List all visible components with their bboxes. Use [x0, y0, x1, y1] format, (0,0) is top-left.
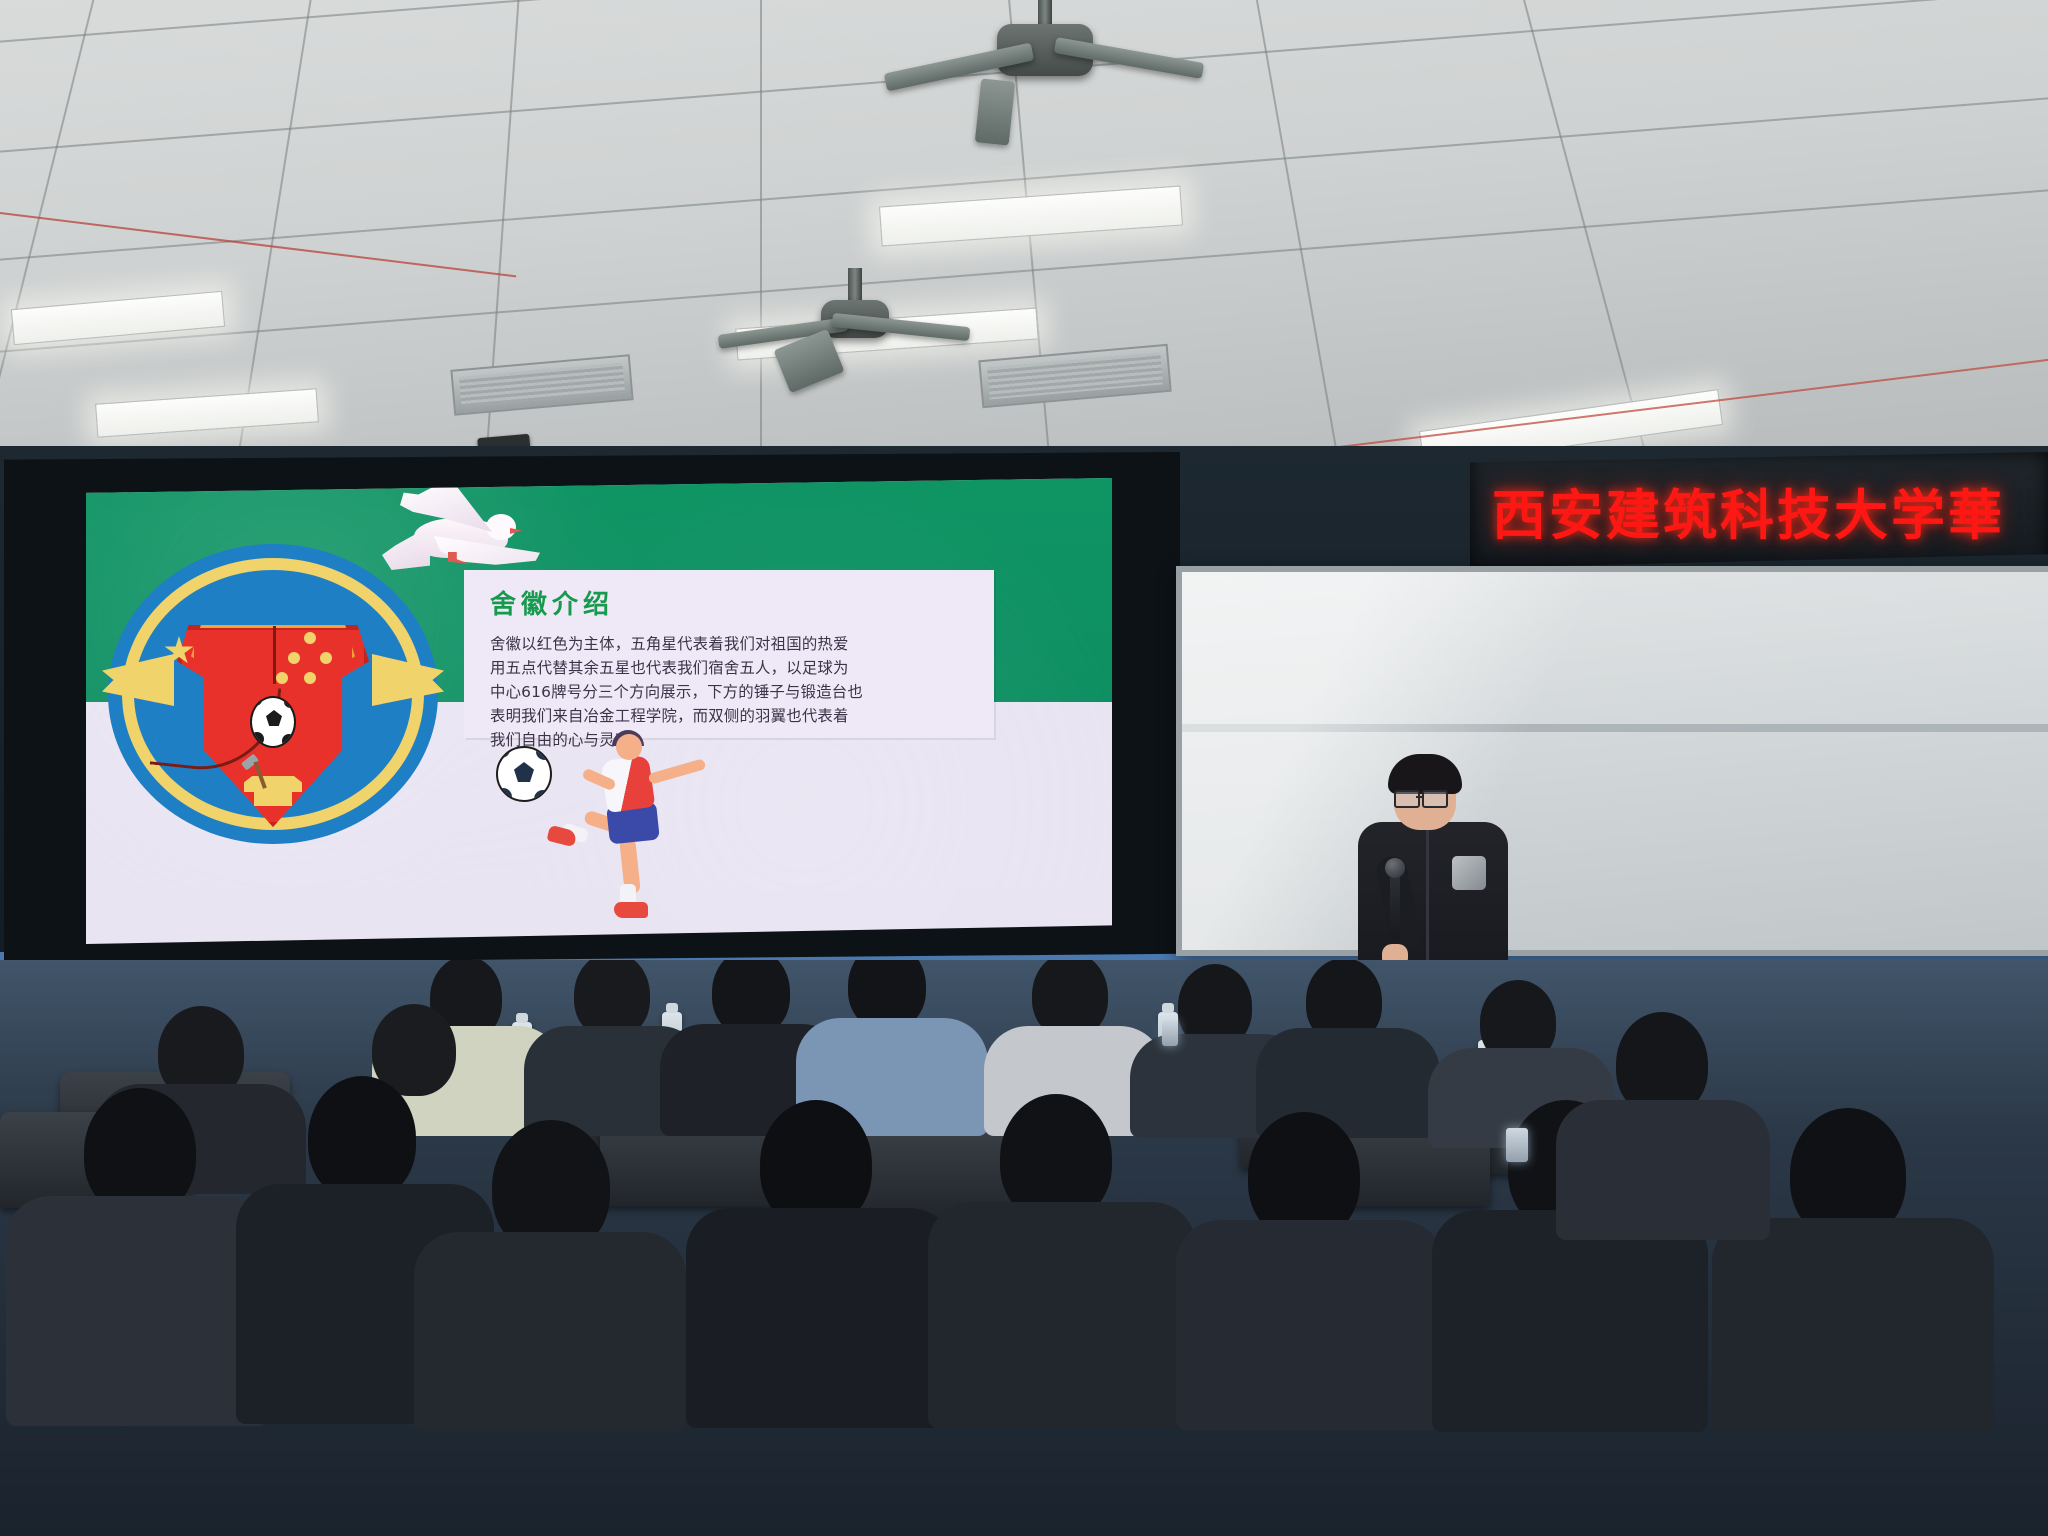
audience-body [1556, 1100, 1770, 1240]
eyeglasses-icon [1422, 790, 1448, 808]
audience-head [308, 1076, 416, 1200]
soccer-ball-emblem-icon [250, 696, 296, 748]
soccer-ball-icon [496, 746, 552, 802]
slide-text-card: 舍徽介绍 舍徽以红色为主体，五角星代表着我们对祖国的热爱 用五点代替其余五星也代… [464, 570, 994, 738]
ceiling-fan [930, 0, 1160, 114]
jacket-logo-icon [1452, 856, 1486, 890]
slide-body: 舍徽以红色为主体，五角星代表着我们对祖国的热爱 用五点代替其余五星也代表我们宿舍… [464, 621, 994, 752]
audience-body [1712, 1218, 1994, 1434]
audience-body [686, 1208, 954, 1428]
phone-screen [1162, 1020, 1178, 1046]
phone-screen [1506, 1128, 1528, 1162]
projected-slide[interactable]: 舍徽介绍 舍徽以红色为主体，五角星代表着我们对祖国的热爱 用五点代替其余五星也代… [86, 478, 1112, 944]
classroom-whiteboard[interactable] [1176, 566, 2048, 956]
ceiling [0, 0, 2048, 500]
whiteboard-glare [1182, 572, 2048, 950]
dormitory-emblem-graphic [108, 544, 438, 844]
led-scrolling-banner: 西安建筑科技大学華 [1470, 452, 2048, 568]
audience-body [1176, 1220, 1444, 1430]
projection-screen-frame: 舍徽介绍 舍徽以红色为主体，五角星代表着我们对祖国的热爱 用五点代替其余五星也代… [4, 452, 1180, 964]
led-banner-text: 西安建筑科技大学華 [1470, 471, 2005, 550]
slide-heading: 舍徽介绍 [464, 570, 994, 621]
ceiling-fan [740, 268, 970, 388]
soccer-player-illustration [556, 734, 716, 920]
audience-area: MATCHA STORY [0, 960, 2048, 1536]
microphone-icon [1390, 870, 1400, 940]
audience-body [928, 1202, 1196, 1428]
anvil-forge-icon [244, 752, 302, 806]
audience-body [414, 1232, 686, 1432]
audience-body [6, 1196, 268, 1426]
lecture-hall-scene: 舍徽介绍 舍徽以红色为主体，五角星代表着我们对祖国的热爱 用五点代替其余五星也代… [0, 0, 2048, 1536]
flying-dove-icon [382, 484, 542, 582]
audience-body [1432, 1210, 1708, 1432]
eyeglasses-icon [1394, 790, 1420, 808]
